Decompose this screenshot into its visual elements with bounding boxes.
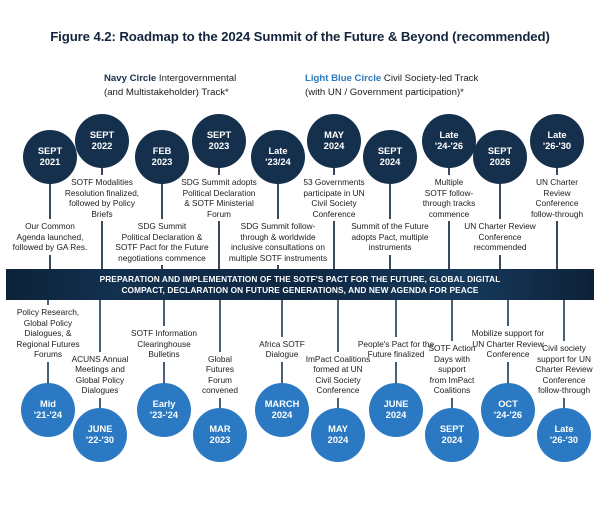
legend-navy-key: Navy Circle (104, 73, 156, 84)
connector-line-bottom-6b (395, 362, 396, 384)
node-label-secondary: '23-'24 (150, 410, 178, 422)
banner-line-1: PREPARATION AND IMPLEMENTATION OF THE SO… (100, 274, 501, 285)
caption-line: Multiple (403, 177, 495, 188)
node-label-secondary: 2024 (380, 157, 401, 169)
connector-line-top-4 (277, 183, 278, 219)
connector-line-top-8b (499, 255, 500, 269)
caption-line: UN Charter Review (445, 221, 555, 232)
node-label-primary: Late (268, 146, 287, 158)
node-label-primary: MAR (209, 424, 230, 436)
node-label-secondary: 2024 (272, 410, 293, 422)
node-label-primary: MARCH (265, 399, 300, 411)
caption-line: Coalitions (413, 385, 491, 396)
node-label-secondary: '23/24 (265, 157, 290, 169)
caption-line: SDG Summit follow- (217, 221, 339, 232)
caption-line: Regional Futures (0, 339, 97, 350)
timeline-node-bottom-9[interactable]: Late'26-'30 (537, 408, 591, 462)
caption-line: UN Charter (511, 177, 600, 188)
node-label-primary: Late (554, 424, 573, 436)
timeline-node-bottom-3[interactable]: MAR2023 (193, 408, 247, 462)
caption-line: recommended (445, 242, 555, 253)
caption-line: through & worldwide (217, 232, 339, 243)
node-label-primary: SEPT (90, 130, 114, 142)
node-label-primary: SEPT (488, 146, 512, 158)
node-label-secondary: 2024 (324, 141, 345, 153)
node-label-secondary: '24-'26 (494, 410, 522, 422)
node-label-secondary: 2023 (152, 157, 173, 169)
caption-line: Mobilize support for (449, 328, 567, 339)
node-label-primary: OCT (498, 399, 518, 411)
node-label-primary: Early (153, 399, 176, 411)
connector-line-top-3 (218, 167, 219, 175)
legend-navy-track: Navy Circle Intergovernmental (and Multi… (104, 72, 304, 100)
connector-line-top-6b (389, 255, 390, 269)
timeline-node-top-9[interactable]: Late'26-'30 (530, 114, 584, 168)
caption-line: Clearinghouse (109, 339, 219, 350)
caption-line: support for UN (512, 354, 600, 365)
timeline-node-bottom-7[interactable]: SEPT2024 (425, 408, 479, 462)
timeline-caption-top-5: 53 Governmentsparticipate in UNCivil Soc… (282, 177, 386, 219)
connector-line-top-0b (49, 255, 50, 269)
node-label-primary: SEPT (378, 146, 402, 158)
node-label-primary: MAY (328, 424, 348, 436)
caption-line: SDG Summit (102, 221, 222, 232)
node-label-secondary: '26-'30 (543, 141, 571, 153)
connector-line-bottom-8b (507, 362, 508, 384)
caption-line: followed by GA Res. (0, 242, 105, 253)
legend-light-rest: Civil Society-led Track (381, 73, 478, 84)
timeline-caption-top-9: UN CharterReviewConferencefollow-through (511, 177, 600, 219)
node-label-primary: JUNE (88, 424, 113, 436)
timeline-node-bottom-1[interactable]: JUNE'22-'30 (73, 408, 127, 462)
caption-line: Our Common (0, 221, 105, 232)
connector-line-bottom-3 (219, 300, 220, 352)
node-label-primary: Mid (40, 399, 56, 411)
caption-line: follow-through (512, 385, 600, 396)
timeline-caption-top-7: MultipleSOTF follow-through trackscommen… (403, 177, 495, 219)
caption-line: Agenda launched, (0, 232, 105, 243)
timeline-caption-bottom-9: Civil societysupport for UNCharter Revie… (512, 343, 600, 396)
node-label-secondary: 2024 (386, 410, 407, 422)
node-label-secondary: 2024 (442, 435, 463, 447)
node-label-secondary: '26-'30 (550, 435, 578, 447)
caption-line: Conference (445, 232, 555, 243)
timeline-node-top-3[interactable]: SEPT2023 (192, 114, 246, 168)
connector-line-top-5 (333, 167, 334, 175)
node-label-secondary: 2024 (328, 435, 349, 447)
caption-line: & SOTF Ministerial (163, 198, 275, 209)
node-label-primary: MAY (324, 130, 344, 142)
caption-line: Global Policy (50, 375, 150, 386)
connector-line-bottom-8 (507, 300, 508, 326)
caption-line: Review (511, 188, 600, 199)
caption-line: SOTF Information (109, 328, 219, 339)
caption-line: Policy Research, (0, 307, 97, 318)
caption-line: Futures (183, 364, 257, 375)
caption-line: Conference (512, 375, 600, 386)
caption-line: commence (403, 209, 495, 220)
caption-line: instruments (331, 242, 449, 253)
connector-line-bottom-4b (281, 362, 282, 384)
connector-line-bottom-2b (163, 362, 164, 384)
legend-light-track: Light Blue Circle Civil Society-led Trac… (305, 72, 535, 100)
caption-line: from ImPact (413, 375, 491, 386)
caption-line: Dialogues, & (0, 328, 97, 339)
caption-line: Political Declaration & (102, 232, 222, 243)
caption-line: 53 Governments (282, 177, 386, 188)
node-label-primary: SEPT (38, 146, 62, 158)
caption-line: convened (183, 385, 257, 396)
timeline-node-top-2[interactable]: FEB2023 (135, 130, 189, 184)
caption-line: follow-through (511, 209, 600, 220)
node-label-secondary: 2023 (209, 141, 230, 153)
caption-line: Forum (183, 375, 257, 386)
timeline-caption-top-2: SDG SummitPolitical Declaration &SOTF Pa… (102, 221, 222, 263)
caption-line: Civil Society (287, 375, 389, 386)
node-label-primary: SEPT (440, 424, 464, 436)
timeline-caption-top-6: Summit of the Futureadopts Pact, multipl… (331, 221, 449, 253)
caption-line: followed by Policy (48, 198, 156, 209)
timeline-caption-top-3: SDG Summit adoptsPolitical Declaration& … (163, 177, 275, 219)
node-label-primary: FEB (153, 146, 172, 158)
caption-line: negotiations commence (102, 253, 222, 264)
legend-navy-rest: Intergovernmental (156, 73, 236, 84)
timeline-node-top-8[interactable]: SEPT2026 (473, 130, 527, 184)
timeline-node-top-7[interactable]: Late'24-'26 (422, 114, 476, 168)
node-label-primary: JUNE (384, 399, 409, 411)
caption-line: support (413, 364, 491, 375)
caption-line: Africa SOTF (234, 339, 330, 350)
connector-line-top-1 (101, 167, 102, 175)
caption-line: SOTF Pact for the Future (102, 242, 222, 253)
timeline-node-top-4[interactable]: Late'23/24 (251, 130, 305, 184)
timeline-node-top-5[interactable]: MAY2024 (307, 114, 361, 168)
legend-navy-line2: (and Multistakeholder) Track* (104, 86, 304, 100)
connector-line-bottom-4 (281, 300, 282, 337)
connector-line-bottom-1 (99, 300, 100, 352)
node-label-primary: SEPT (207, 130, 231, 142)
caption-line: Political Declaration (163, 188, 275, 199)
timeline-caption-top-1: SOTF ModalitiesResolution finalized,foll… (48, 177, 156, 219)
roadmap-figure: Figure 4.2: Roadmap to the 2024 Summit o… (0, 0, 600, 507)
caption-line: SDG Summit adopts (163, 177, 275, 188)
caption-line: participate in UN (282, 188, 386, 199)
caption-line: Forum (163, 209, 275, 220)
caption-line: inclusive consultations on (217, 242, 339, 253)
timeline-caption-top-8: UN Charter ReviewConferencerecommended (445, 221, 555, 253)
caption-line: Conference (282, 209, 386, 220)
timeline-node-top-6[interactable]: SEPT2024 (363, 130, 417, 184)
caption-line: Dialogues (50, 385, 150, 396)
node-label-primary: Late (547, 130, 566, 142)
caption-line: Summit of the Future (331, 221, 449, 232)
caption-line: Resolution finalized, (48, 188, 156, 199)
caption-line: formed at UN (287, 364, 389, 375)
connector-line-top-9b (556, 221, 557, 269)
caption-line: SOTF follow- (403, 188, 495, 199)
caption-line: multiple SOTF instruments (217, 253, 339, 264)
connector-line-bottom-9 (563, 300, 564, 341)
timeline-caption-bottom-0: Policy Research,Global PolicyDialogues, … (0, 307, 97, 360)
node-label-secondary: 2026 (490, 157, 511, 169)
connector-line-top-7 (448, 167, 449, 175)
caption-line: Charter Review (512, 364, 600, 375)
implementation-banner: PREPARATION AND IMPLEMENTATION OF THE SO… (6, 269, 594, 300)
connector-line-bottom-0b (47, 362, 48, 384)
connector-line-top-8 (499, 183, 500, 219)
timeline-node-top-0[interactable]: SEPT2021 (23, 130, 77, 184)
page-title: Figure 4.2: Roadmap to the 2024 Summit o… (0, 29, 600, 44)
connector-line-bottom-6 (395, 300, 396, 337)
timeline-node-bottom-5[interactable]: MAY2024 (311, 408, 365, 462)
caption-line: Conference (511, 198, 600, 209)
node-label-secondary: '24-'26 (435, 141, 463, 153)
node-label-secondary: 2021 (40, 157, 61, 169)
caption-line: through tracks (403, 198, 495, 209)
caption-line: Briefs (48, 209, 156, 220)
node-label-secondary: '21-'24 (34, 410, 62, 422)
banner-line-2: COMPACT, DECLARATION ON FUTURE GENERATIO… (100, 285, 501, 296)
caption-line: Civil Society (282, 198, 386, 209)
node-label-secondary: 2023 (210, 435, 231, 447)
connector-line-top-9 (556, 167, 557, 175)
caption-line: SOTF Modalities (48, 177, 156, 188)
connector-line-top-6 (389, 183, 390, 219)
node-label-primary: Late (439, 130, 458, 142)
node-label-secondary: 2022 (92, 141, 113, 153)
caption-line: Meetings and (50, 364, 150, 375)
legend: Navy Circle Intergovernmental (and Multi… (0, 72, 600, 102)
caption-line: Global Policy (0, 318, 97, 329)
timeline-caption-top-4: SDG Summit follow-through & worldwideinc… (217, 221, 339, 263)
caption-line: adopts Pact, multiple (331, 232, 449, 243)
timeline-node-top-1[interactable]: SEPT2022 (75, 114, 129, 168)
node-label-secondary: '22-'30 (86, 435, 114, 447)
connector-line-bottom-2 (163, 300, 164, 326)
legend-light-line2: (with UN / Government participation)* (305, 86, 535, 100)
timeline-caption-top-0: Our CommonAgenda launched,followed by GA… (0, 221, 105, 253)
caption-line: Civil society (512, 343, 600, 354)
connector-line-bottom-0 (47, 300, 48, 305)
legend-light-key: Light Blue Circle (305, 73, 381, 84)
